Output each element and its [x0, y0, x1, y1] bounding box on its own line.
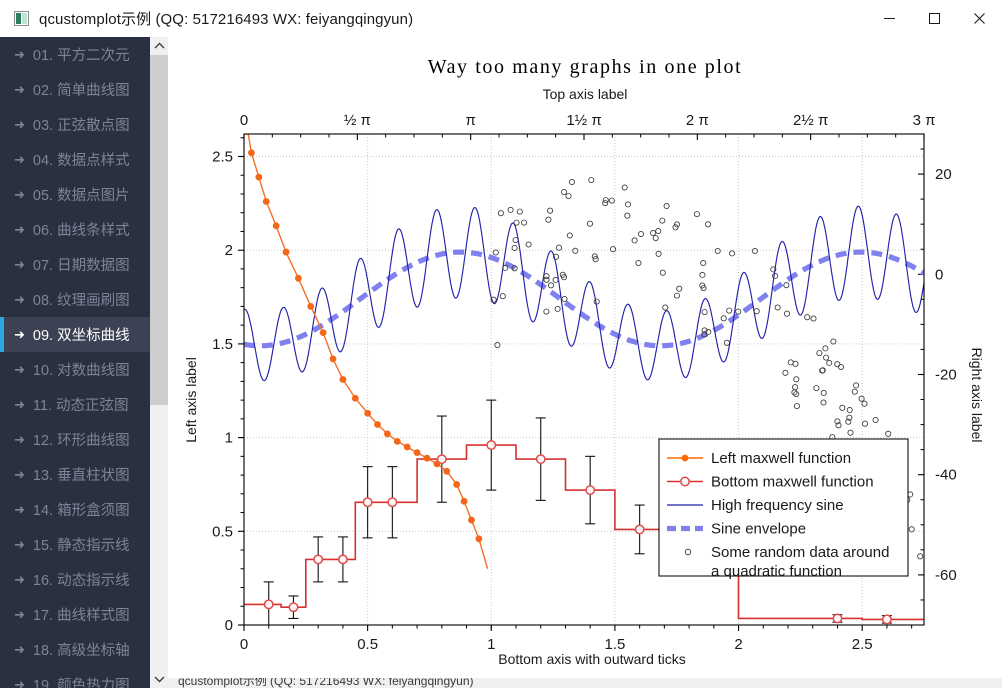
- sidebar-item-13[interactable]: ➜13. 垂直柱状图: [0, 457, 150, 492]
- left-axis-label: Left axis label: [183, 357, 199, 443]
- chart-title: Way too many graphs in one plot: [428, 56, 743, 78]
- sidebar-item-label: 10. 对数曲线图: [33, 359, 130, 380]
- arrow-right-icon: ➜: [14, 48, 25, 61]
- svg-text:0.5: 0.5: [212, 523, 233, 540]
- arrow-right-icon: ➜: [14, 398, 25, 411]
- minimize-button[interactable]: [867, 0, 912, 37]
- sidebar-item-label: 15. 静态指示线: [33, 534, 130, 555]
- svg-text:-40: -40: [935, 467, 957, 484]
- sidebar-item-label: 02. 简单曲线图: [33, 79, 130, 100]
- sidebar-item-label: 16. 动态指示线: [33, 569, 130, 590]
- sidebar-item-3[interactable]: ➜03. 正弦散点图: [0, 107, 150, 142]
- sidebar-item-18[interactable]: ➜18. 高级坐标轴: [0, 632, 150, 667]
- svg-text:-60: -60: [935, 567, 957, 584]
- arrow-right-icon: ➜: [14, 643, 25, 656]
- svg-text:2.5: 2.5: [212, 148, 233, 165]
- bottom-strip: qcustomplot示例 (QQ: 517216493 WX: feiyang…: [168, 678, 1002, 688]
- sidebar-item-label: 11. 动态正弦图: [33, 394, 129, 415]
- sidebar-item-label: 13. 垂直柱状图: [33, 464, 130, 485]
- sidebar-item-label: 18. 高级坐标轴: [33, 639, 130, 660]
- arrow-right-icon: ➜: [14, 153, 25, 166]
- arrow-right-icon: ➜: [14, 433, 25, 446]
- sidebar-scrollbar[interactable]: [150, 37, 168, 688]
- arrow-right-icon: ➜: [14, 538, 25, 551]
- maximize-icon: [928, 12, 941, 25]
- bottom-axis-label: Bottom axis with outward ticks: [498, 651, 686, 667]
- sidebar-item-12[interactable]: ➜12. 环形曲线图: [0, 422, 150, 457]
- close-icon: [973, 12, 986, 25]
- arrow-right-icon: ➜: [14, 258, 25, 271]
- app-icon: [14, 11, 29, 26]
- legend-label: Bottom maxwell function: [711, 474, 874, 491]
- legend-label: Some random data around: [711, 544, 889, 561]
- sidebar-item-5[interactable]: ➜05. 数据点图片: [0, 177, 150, 212]
- svg-text:1½ π: 1½ π: [566, 112, 601, 129]
- chart-svg[interactable]: Way too many graphs in one plot Top axis…: [172, 40, 998, 677]
- sidebar-item-label: 08. 纹理画刷图: [33, 289, 130, 310]
- sidebar-item-6[interactable]: ➜06. 曲线条样式: [0, 212, 150, 247]
- svg-text:3 π: 3 π: [913, 112, 936, 129]
- title-bar: qcustomplot示例 (QQ: 517216493 WX: feiyang…: [0, 0, 1002, 38]
- legend-item[interactable]: Bottom maxwell function: [711, 474, 874, 491]
- legend-label: High frequency sine: [711, 497, 844, 514]
- arrow-right-icon: ➜: [14, 328, 25, 341]
- legend-item[interactable]: Left maxwell function: [711, 450, 851, 467]
- arrow-right-icon: ➜: [14, 188, 25, 201]
- svg-text:1: 1: [487, 636, 495, 653]
- svg-text:0: 0: [225, 617, 233, 634]
- arrow-right-icon: ➜: [14, 83, 25, 96]
- arrow-right-icon: ➜: [14, 503, 25, 516]
- plot-panel[interactable]: Way too many graphs in one plot Top axis…: [168, 37, 1002, 688]
- minimize-icon: [883, 12, 896, 25]
- legend-item[interactable]: Sine envelope: [711, 521, 806, 538]
- sidebar-item-17[interactable]: ➜17. 曲线样式图: [0, 597, 150, 632]
- svg-text:0: 0: [935, 266, 943, 283]
- svg-text:2.5: 2.5: [852, 636, 873, 653]
- window-title: qcustomplot示例 (QQ: 517216493 WX: feiyang…: [39, 8, 413, 29]
- svg-text:1: 1: [225, 430, 233, 447]
- scrollbar-thumb[interactable]: [150, 55, 168, 405]
- sidebar-item-label: 03. 正弦散点图: [33, 114, 130, 135]
- top-axis-label: Top axis label: [543, 86, 628, 102]
- sidebar-item-10[interactable]: ➜10. 对数曲线图: [0, 352, 150, 387]
- close-button[interactable]: [957, 0, 1002, 37]
- sidebar-item-label: 19. 颜色热力图: [33, 674, 130, 688]
- svg-text:-20: -20: [935, 366, 957, 383]
- right-axis-label: Right axis label: [969, 348, 985, 443]
- sidebar-item-label: 09. 双坐标曲线: [33, 324, 130, 345]
- svg-text:0: 0: [240, 636, 248, 653]
- bottom-strip-text: qcustomplot示例 (QQ: 517216493 WX: feiyang…: [178, 678, 474, 688]
- sidebar-item-16[interactable]: ➜16. 动态指示线: [0, 562, 150, 597]
- arrow-right-icon: ➜: [14, 363, 25, 376]
- svg-text:1.5: 1.5: [212, 336, 233, 353]
- svg-text:0.5: 0.5: [357, 636, 378, 653]
- sidebar-item-7[interactable]: ➜07. 日期数据图: [0, 247, 150, 282]
- arrow-right-icon: ➜: [14, 573, 25, 586]
- arrow-right-icon: ➜: [14, 608, 25, 621]
- sidebar-item-label: 12. 环形曲线图: [33, 429, 130, 450]
- app-window: qcustomplot示例 (QQ: 517216493 WX: feiyang…: [0, 0, 1002, 688]
- legend-label: a quadratic function: [711, 563, 842, 580]
- svg-text:20: 20: [935, 166, 952, 183]
- arrow-right-icon: ➜: [14, 678, 25, 688]
- sidebar: ➜01. 平方二次元➜02. 简单曲线图➜03. 正弦散点图➜04. 数据点样式…: [0, 37, 168, 688]
- sidebar-item-label: 01. 平方二次元: [33, 44, 130, 65]
- sidebar-list: ➜01. 平方二次元➜02. 简单曲线图➜03. 正弦散点图➜04. 数据点样式…: [0, 37, 150, 688]
- arrow-right-icon: ➜: [14, 293, 25, 306]
- sidebar-item-4[interactable]: ➜04. 数据点样式: [0, 142, 150, 177]
- window-controls: [867, 0, 1002, 37]
- sidebar-item-15[interactable]: ➜15. 静态指示线: [0, 527, 150, 562]
- scroll-up-icon[interactable]: [150, 37, 168, 55]
- sidebar-item-9[interactable]: ➜09. 双坐标曲线: [0, 317, 150, 352]
- plot-canvas[interactable]: Way too many graphs in one plot Top axis…: [172, 40, 998, 677]
- legend-item[interactable]: High frequency sine: [711, 497, 844, 514]
- sidebar-item-label: 07. 日期数据图: [33, 254, 130, 275]
- sidebar-item-14[interactable]: ➜14. 箱形盒须图: [0, 492, 150, 527]
- sidebar-item-label: 17. 曲线样式图: [33, 604, 130, 625]
- svg-text:2½ π: 2½ π: [793, 112, 828, 129]
- legend-label: Sine envelope: [711, 521, 806, 538]
- sidebar-item-2[interactable]: ➜02. 简单曲线图: [0, 72, 150, 107]
- maximize-button[interactable]: [912, 0, 957, 37]
- legend-label: Left maxwell function: [711, 450, 851, 467]
- arrow-right-icon: ➜: [14, 468, 25, 481]
- sidebar-item-label: 14. 箱形盒须图: [33, 499, 130, 520]
- svg-text:0: 0: [240, 112, 248, 129]
- arrow-right-icon: ➜: [14, 118, 25, 131]
- svg-text:2: 2: [225, 242, 233, 259]
- arrow-right-icon: ➜: [14, 223, 25, 236]
- sidebar-item-19[interactable]: ➜19. 颜色热力图: [0, 667, 150, 688]
- scroll-down-icon[interactable]: [150, 670, 168, 688]
- svg-text:π: π: [465, 112, 475, 129]
- sidebar-item-label: 05. 数据点图片: [33, 184, 130, 205]
- chart-legend[interactable]: Left maxwell functionBottom maxwell func…: [659, 439, 908, 580]
- svg-text:2 π: 2 π: [686, 112, 709, 129]
- sidebar-item-1[interactable]: ➜01. 平方二次元: [0, 37, 150, 72]
- svg-text:2: 2: [734, 636, 742, 653]
- sidebar-item-8[interactable]: ➜08. 纹理画刷图: [0, 282, 150, 317]
- sidebar-item-11[interactable]: ➜11. 动态正弦图: [0, 387, 150, 422]
- sidebar-item-label: 06. 曲线条样式: [33, 219, 130, 240]
- sidebar-item-label: 04. 数据点样式: [33, 149, 130, 170]
- svg-text:½ π: ½ π: [344, 112, 371, 129]
